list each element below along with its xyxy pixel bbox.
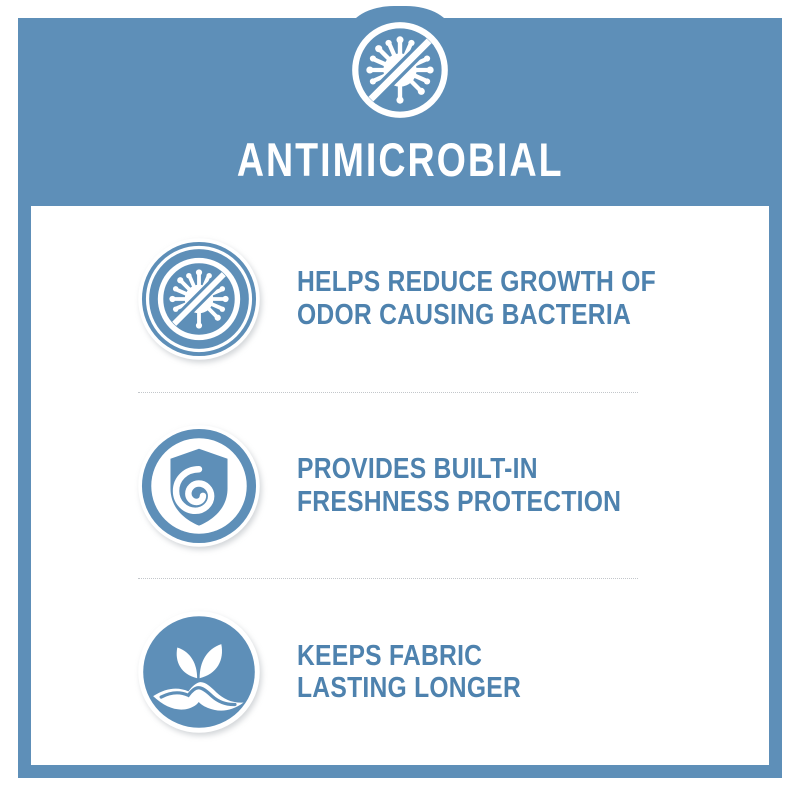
divider: [138, 578, 638, 579]
feature-text-line2: FRESHNESS PROTECTION: [297, 486, 621, 518]
list-item: KEEPS FABRIC LASTING LONGER: [31, 579, 769, 765]
feature-icon-wrap: [137, 424, 261, 548]
feature-text: KEEPS FABRIC LASTING LONGER: [297, 640, 521, 705]
feature-text-line1: PROVIDES BUILT-IN: [297, 453, 621, 485]
divider: [138, 392, 638, 393]
feature-card: HELPS REDUCE GROWTH OF ODOR CAUSING BACT…: [31, 206, 769, 765]
feature-text: HELPS REDUCE GROWTH OF ODOR CAUSING BACT…: [297, 266, 656, 331]
feature-text-line2: ODOR CAUSING BACTERIA: [297, 299, 656, 331]
no-germ-icon: [348, 18, 452, 122]
leaf-fabric-icon: [137, 610, 261, 734]
infographic-canvas: ANTIMICROBIAL: [0, 0, 800, 800]
list-item: HELPS REDUCE GROWTH OF ODOR CAUSING BACT…: [31, 206, 769, 392]
feature-text-line1: HELPS REDUCE GROWTH OF: [297, 266, 656, 298]
shield-swirl-icon: [137, 424, 261, 548]
feature-icon-wrap: [137, 610, 261, 734]
page-title: ANTIMICROBIAL: [237, 136, 564, 183]
feature-text-line1: KEEPS FABRIC: [297, 640, 521, 672]
feature-text: PROVIDES BUILT-IN FRESHNESS PROTECTION: [297, 453, 621, 518]
list-item: PROVIDES BUILT-IN FRESHNESS PROTECTION: [31, 393, 769, 579]
header: ANTIMICROBIAL: [18, 18, 782, 206]
no-germ-circle-icon: [137, 237, 261, 361]
feature-list: HELPS REDUCE GROWTH OF ODOR CAUSING BACT…: [31, 206, 769, 765]
feature-icon-wrap: [137, 237, 261, 361]
feature-text-line2: LASTING LONGER: [297, 672, 521, 704]
